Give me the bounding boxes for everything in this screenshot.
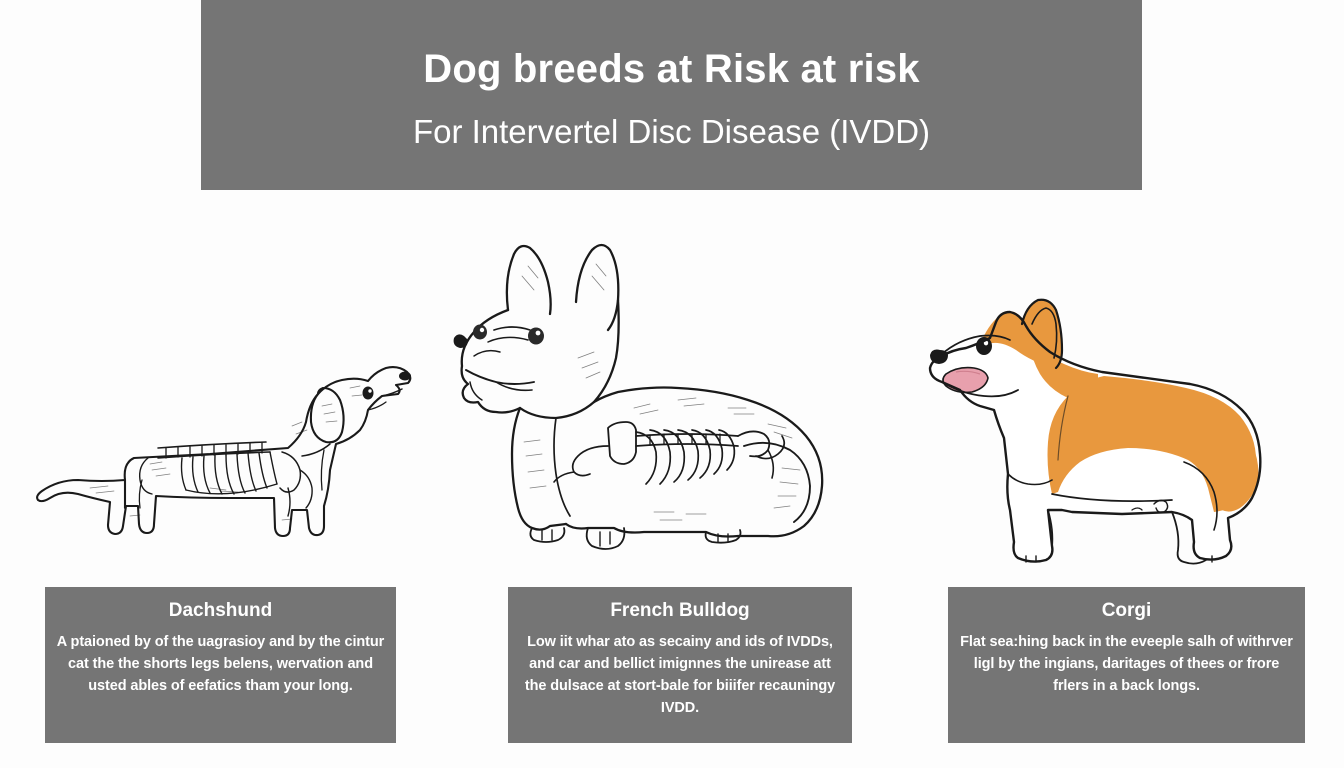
breed-description-dachshund: A ptaioned by of the uagrasioy and by th… — [55, 631, 386, 697]
breed-name-french-bulldog: French Bulldog — [610, 601, 749, 622]
dachshund-illustration — [30, 330, 420, 565]
breed-description-corgi: Flat sea:hing back in the eveeple salh o… — [958, 631, 1295, 697]
breed-name-dachshund: Dachshund — [169, 601, 272, 622]
breed-name-corgi: Corgi — [1102, 601, 1152, 622]
corgi-illustration — [922, 298, 1307, 570]
page-subtitle: For Intervertel Disc Disease (IVDD) — [413, 115, 930, 148]
infographic-canvas: Dog breeds at Risk at risk For Intervert… — [0, 0, 1344, 768]
french-bulldog-illustration — [438, 232, 848, 567]
title-banner: Dog breeds at Risk at risk For Intervert… — [201, 0, 1142, 190]
breed-description-french-bulldog: Low iit whar ato as secainy and ids of I… — [518, 631, 842, 719]
caption-card-french-bulldog: French Bulldog Low iit whar ato as secai… — [508, 587, 852, 743]
page-title: Dog breeds at Risk at risk — [423, 49, 920, 89]
caption-card-dachshund: Dachshund A ptaioned by of the uagrasioy… — [45, 587, 396, 743]
caption-card-corgi: Corgi Flat sea:hing back in the eveeple … — [948, 587, 1305, 743]
